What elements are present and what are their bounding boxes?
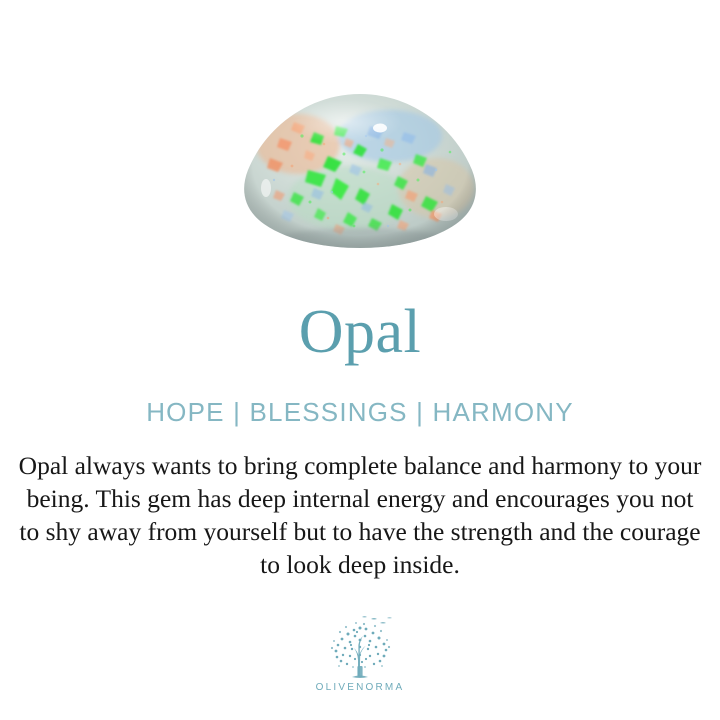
gem-interior: [240, 92, 480, 250]
olivenorma-tree-icon: [321, 614, 399, 680]
brand-logo: OLIVENORMA: [0, 614, 720, 693]
gemstone-description: Opal always wants to bring complete bala…: [18, 449, 702, 581]
gemstone-title: Opal: [0, 296, 720, 368]
opal-gemstone-svg: [240, 92, 480, 250]
brand-name: OLIVENORMA: [316, 682, 405, 693]
gemstone-keywords: HOPE | BLESSINGS | HARMONY: [0, 396, 720, 428]
opal-gemstone-image: [240, 92, 480, 250]
gemstone-info-card: Opal HOPE | BLESSINGS | HARMONY Opal alw…: [0, 0, 720, 720]
